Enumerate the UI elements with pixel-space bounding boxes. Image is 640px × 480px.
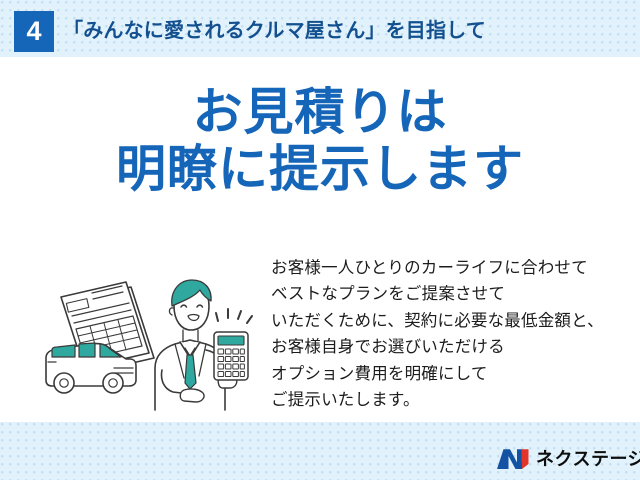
body-copy-line-1: お客様一人ひとりのカーライフに合わせて — [271, 255, 631, 281]
headline-line-2: 明瞭に提示します — [0, 141, 640, 198]
body-copy-line-2: ベストなプランをご提案させて — [271, 281, 631, 307]
header-title: 「みんなに愛されるクルマ屋さん」を目指して — [63, 12, 486, 50]
section-number-badge: 4 — [14, 11, 54, 52]
body-copy-line-3: いただくために、契約に必要な最低金額と、 — [271, 308, 631, 334]
advertisement-banner: 4 「みんなに愛されるクルマ屋さん」を目指して お見積りは 明瞭に提示します お… — [0, 0, 640, 480]
salesman-illustration — [34, 258, 264, 418]
salesman-illustration-graphic — [34, 258, 264, 418]
nextage-logo: ネクステージ — [497, 446, 640, 472]
nextage-n-mark-icon — [497, 448, 529, 470]
nextage-wordmark: ネクステージ — [536, 448, 640, 470]
body-copy-line-6: ご提示いたします。 — [271, 387, 631, 413]
sparkle-icon — [216, 309, 252, 323]
body-copy-line-4: お客様自身でお選びいただける — [271, 334, 631, 360]
body-copy-line-5: オプション費用を明確にして — [271, 361, 631, 387]
headline: お見積りは 明瞭に提示します — [0, 84, 640, 198]
headline-line-1: お見積りは — [0, 84, 640, 141]
body-copy: お客様一人ひとりのカーライフに合わせて ベストなプランをご提案させて いただくた… — [271, 255, 631, 413]
calculator-icon — [214, 332, 248, 380]
